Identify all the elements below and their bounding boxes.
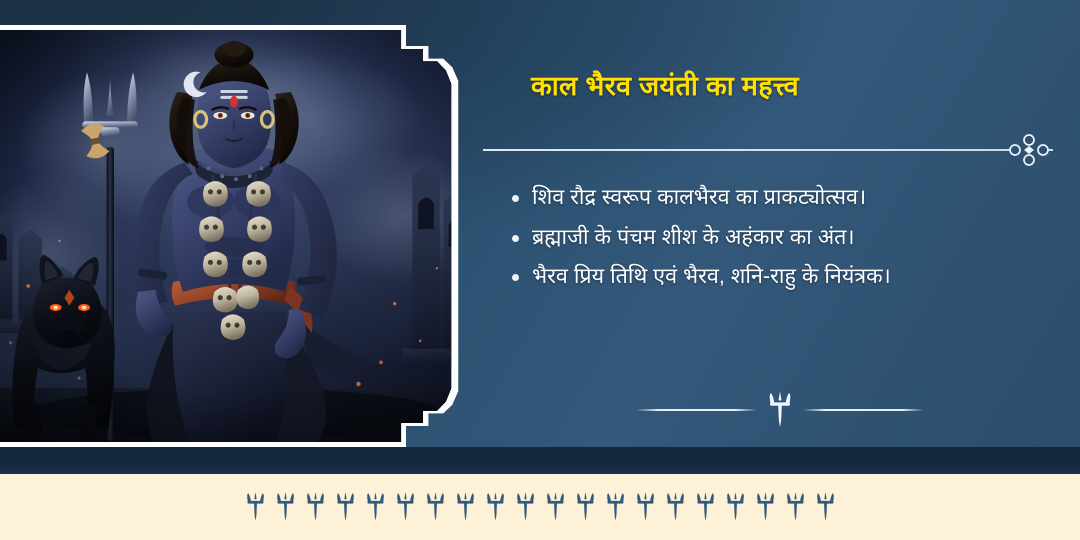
divider-line-right xyxy=(803,409,924,411)
artwork-image xyxy=(0,30,478,442)
bullet-dot-icon xyxy=(512,274,519,281)
footer-dark-strip xyxy=(0,447,1080,474)
trident-icon xyxy=(665,490,686,524)
footer-trident-row xyxy=(0,474,1080,540)
list-item: शिव रौद्र स्वरूप कालभैरव का प्राकट्योत्स… xyxy=(512,182,1032,213)
section-divider xyxy=(636,392,924,428)
trident-icon xyxy=(335,490,356,524)
trident-icon xyxy=(725,490,746,524)
divider-line-left xyxy=(636,409,757,411)
rule-line xyxy=(483,149,1005,151)
artwork-frame xyxy=(0,25,483,447)
trident-icon xyxy=(545,490,566,524)
trident-icon xyxy=(785,490,806,524)
trident-icon xyxy=(575,490,596,524)
highlights-list: शिव रौद्र स्वरूप कालभैरव का प्राकट्योत्स… xyxy=(512,182,1032,301)
trident-icon xyxy=(635,490,656,524)
trident-icon xyxy=(605,490,626,524)
trident-icon xyxy=(815,490,836,524)
bullet-dot-icon xyxy=(512,195,519,202)
trident-icon xyxy=(365,490,386,524)
trident-icon xyxy=(395,490,416,524)
trident-icon xyxy=(275,490,296,524)
list-item: ब्रह्माजी के पंचम शीश के अहंकार का अंत। xyxy=(512,222,1032,253)
poster-canvas: काल भैरव जयंती का महत्त्व शिव रौद्र स्वर… xyxy=(0,0,1080,540)
list-item: भैरव प्रिय तिथि एवं भैरव, शनि-राहु के नि… xyxy=(512,261,1032,292)
trident-icon xyxy=(755,490,776,524)
trident-icon xyxy=(245,490,266,524)
trident-icon xyxy=(305,490,326,524)
four-petal-knot-icon xyxy=(1005,134,1053,166)
trident-icon xyxy=(485,490,506,524)
page-title: काल भैरव जयंती का महत्त्व xyxy=(531,66,799,103)
trident-icon xyxy=(425,490,446,524)
list-item-text: ब्रह्माजी के पंचम शीश के अहंकार का अंत। xyxy=(532,222,855,253)
list-item-text: शिव रौद्र स्वरूप कालभैरव का प्राकट्योत्स… xyxy=(532,182,866,213)
bullet-dot-icon xyxy=(512,235,519,242)
trident-icon xyxy=(767,392,793,428)
trident-icon xyxy=(695,490,716,524)
title-rule xyxy=(483,134,1053,166)
trident-icon xyxy=(515,490,536,524)
list-item-text: भैरव प्रिय तिथि एवं भैरव, शनि-राहु के नि… xyxy=(532,261,891,292)
artwork-panel xyxy=(0,25,483,447)
trident-icon xyxy=(455,490,476,524)
shiva-artwork xyxy=(0,30,478,442)
